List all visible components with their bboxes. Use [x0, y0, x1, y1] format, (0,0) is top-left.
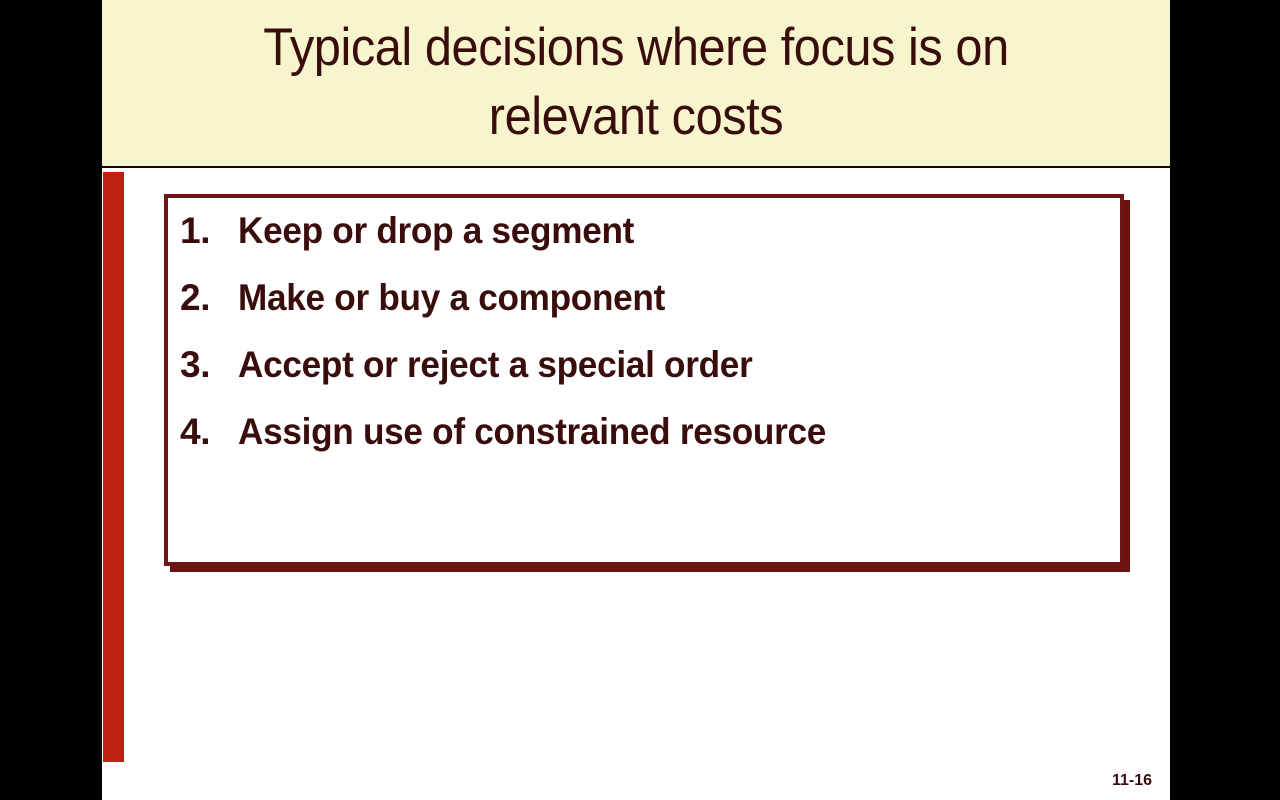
slide-root: Typical decisions where focus is on rele…	[0, 0, 1280, 800]
list-item-number: 1.	[180, 212, 238, 249]
list-item: 4. Assign use of constrained resource	[180, 413, 1102, 450]
slide-canvas: Typical decisions where focus is on rele…	[102, 0, 1170, 800]
page-number: 11-16	[1112, 772, 1152, 790]
decision-box: 1. Keep or drop a segment 2. Make or buy…	[164, 194, 1124, 566]
decision-list: 1. Keep or drop a segment 2. Make or buy…	[180, 212, 1102, 450]
list-item-label: Assign use of constrained resource	[238, 413, 826, 450]
list-item-number: 4.	[180, 413, 238, 450]
list-item-number: 3.	[180, 346, 238, 383]
decision-list-container: 1. Keep or drop a segment 2. Make or buy…	[164, 194, 1124, 566]
list-item-label: Accept or reject a special order	[238, 346, 752, 383]
list-item-label: Keep or drop a segment	[238, 212, 634, 249]
slide-title: Typical decisions where focus is on rele…	[199, 14, 1073, 152]
list-item: 1. Keep or drop a segment	[180, 212, 1102, 249]
title-band: Typical decisions where focus is on rele…	[102, 0, 1170, 168]
list-item-number: 2.	[180, 279, 238, 316]
list-item: 3. Accept or reject a special order	[180, 346, 1102, 383]
list-item: 2. Make or buy a component	[180, 279, 1102, 316]
list-item-label: Make or buy a component	[238, 279, 665, 316]
left-accent-bar	[103, 172, 124, 762]
